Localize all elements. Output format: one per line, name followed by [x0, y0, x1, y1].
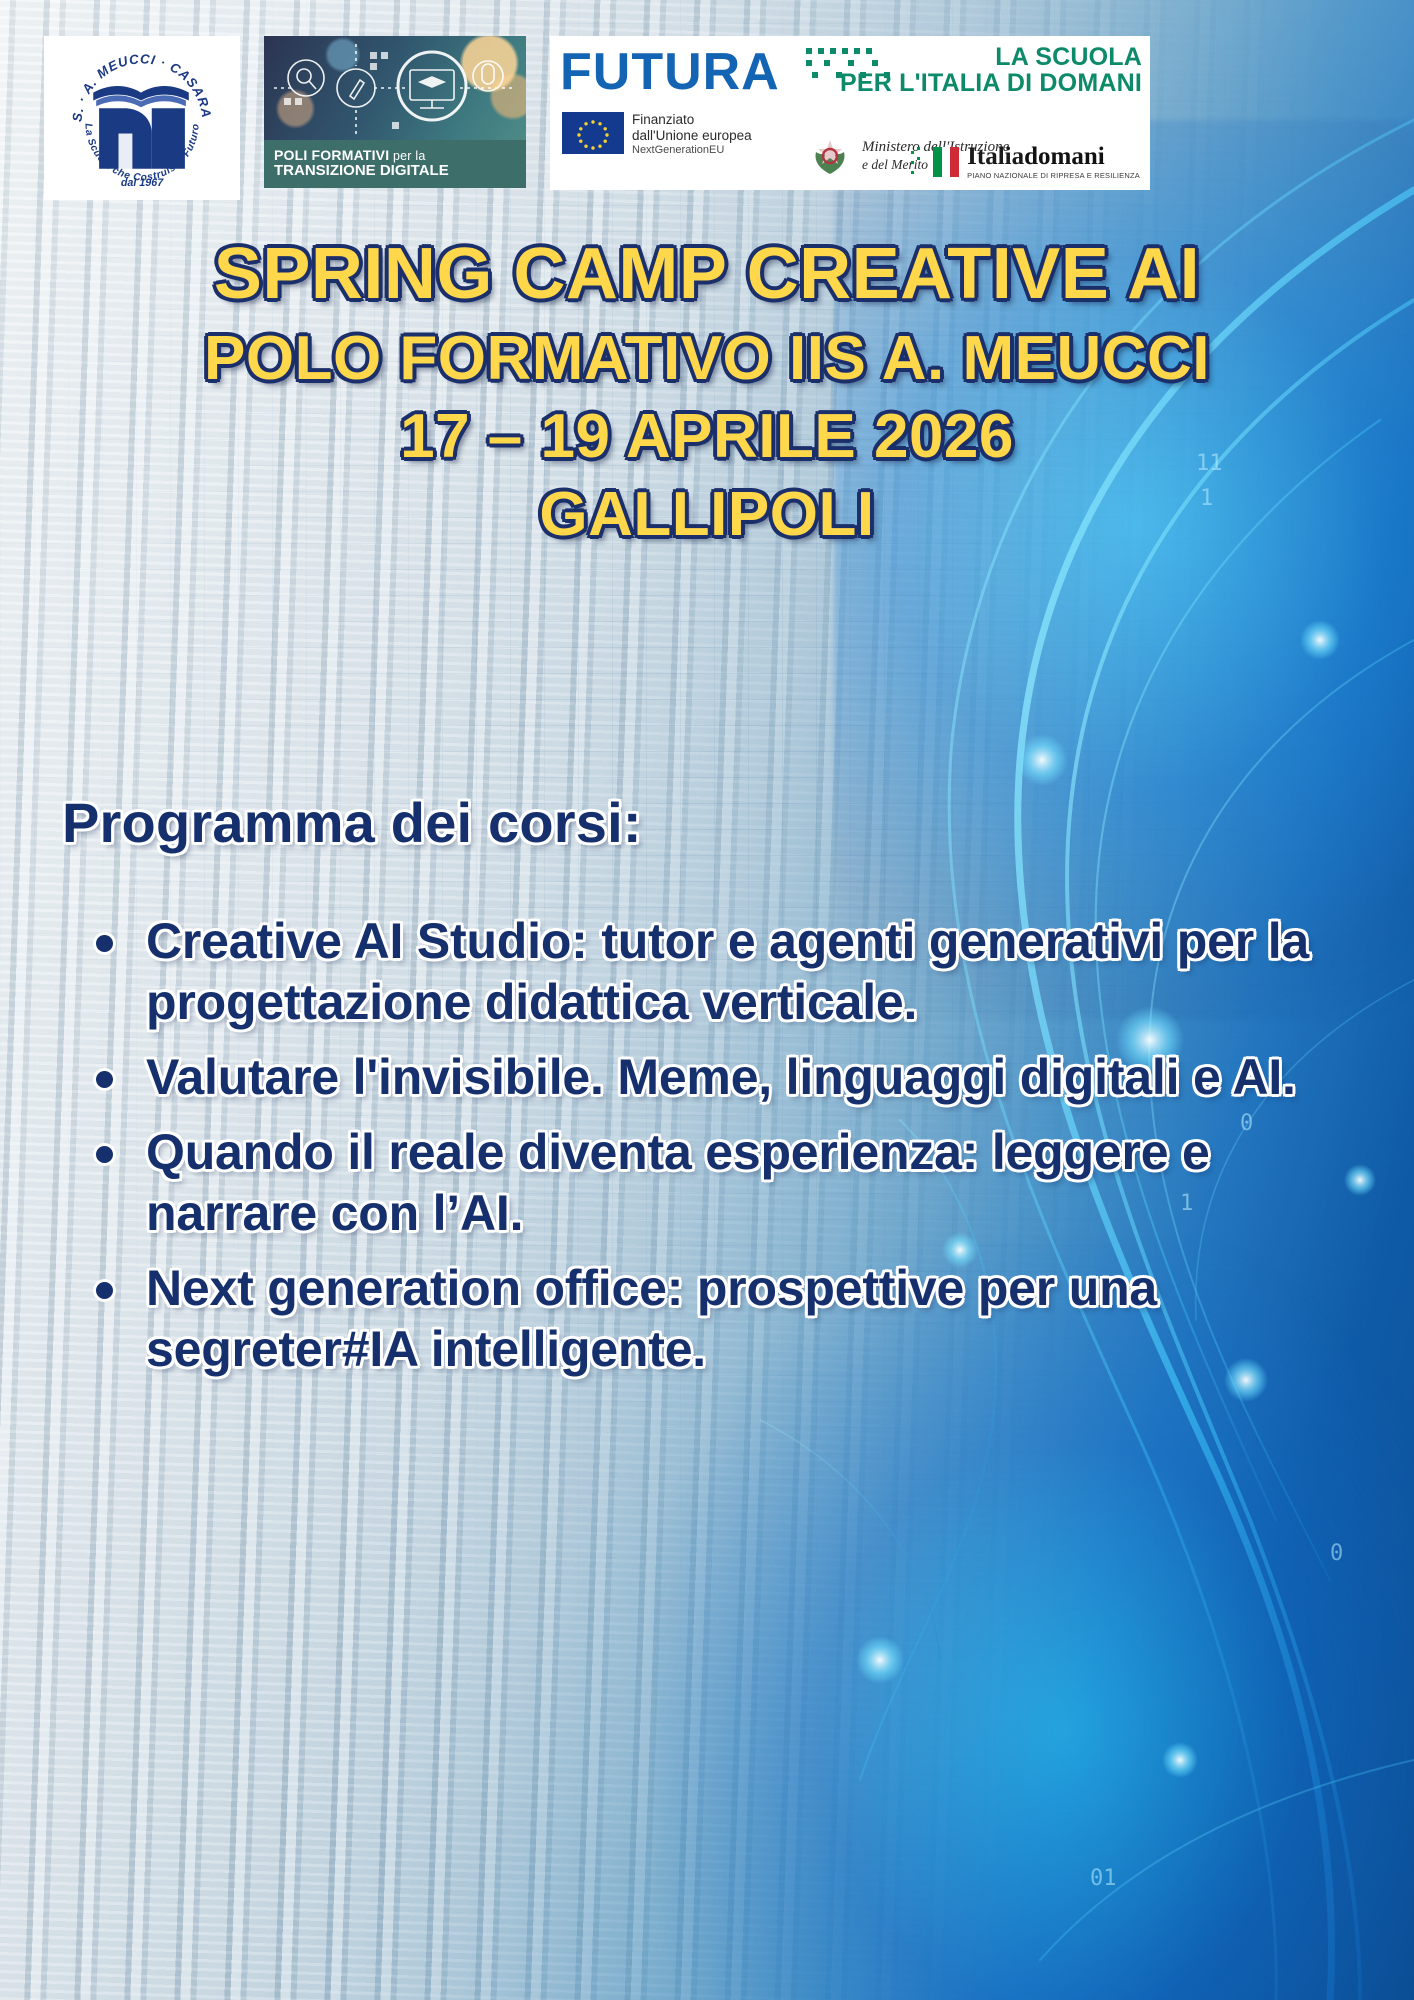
italia-domani-wordmark: Italiadomani PIANO NAZIONALE DI RIPRESA …	[967, 144, 1140, 180]
poli-icons	[264, 36, 526, 140]
course-item-label: Quando il reale diventa esperienza: legg…	[146, 1124, 1210, 1241]
poster-dates: 17 – 19 APRILE 2026	[0, 404, 1414, 470]
eu-funding-text: Finanziato dall'Unione europea NextGener…	[632, 112, 752, 157]
italia-subtitle: PIANO NAZIONALE DI RIPRESA E RESILIENZA	[967, 172, 1140, 180]
svg-text:01: 01	[1090, 1866, 1117, 1891]
course-list: Creative AI Studio: tutor e agenti gener…	[48, 911, 1366, 1380]
bullet-icon	[96, 1146, 113, 1163]
scuola-line1: LA SCUOLA	[840, 44, 1142, 70]
italia-dots-icon	[911, 147, 925, 177]
poli-caption: POLI FORMATIVI per la TRANSIZIONE DIGITA…	[264, 140, 526, 188]
republic-emblem-icon	[808, 134, 852, 178]
eu-funding-block: Finanziato dall'Unione europea NextGener…	[562, 112, 752, 157]
logo-strip: · I.I.S. · A. MEUCCI · CASARANO · La Scu…	[0, 36, 1414, 196]
school-logo: · I.I.S. · A. MEUCCI · CASARANO · La Scu…	[44, 36, 240, 200]
italia-word-2: domani	[1024, 143, 1105, 170]
italia-word-1: Italia	[967, 143, 1024, 170]
meucci-seal-icon: · I.I.S. · A. MEUCCI · CASARANO · La Scu…	[64, 40, 220, 196]
scuola-line2: PER L'ITALIA DI DOMANI	[840, 70, 1142, 96]
poli-photo	[264, 36, 526, 140]
eu-flag-icon	[562, 112, 624, 154]
poster-subtitle-venue: POLO FORMATIVO IIS A. MEUCCI	[0, 326, 1414, 392]
eu-line3: NextGenerationEU	[632, 144, 752, 157]
eu-line1: Finanziato	[632, 112, 752, 128]
poli-formativi-logo: POLI FORMATIVI per la TRANSIZIONE DIGITA…	[264, 36, 526, 188]
course-item-label: Valutare l'invisibile. Meme, linguaggi d…	[146, 1049, 1296, 1105]
course-item: Valutare l'invisibile. Meme, linguaggi d…	[88, 1047, 1366, 1108]
svg-text:0: 0	[1330, 1541, 1343, 1566]
futura-banner: FUTURA	[550, 36, 1150, 190]
title-block: SPRING CAMP CREATIVE AI POLO FORMATIVO I…	[0, 236, 1414, 547]
poli-line1-bold: POLI FORMATIVI	[274, 147, 389, 163]
programme-heading: Programma dei corsi:	[62, 790, 1366, 855]
course-item-label: Next generation office: prospettive per …	[146, 1260, 1157, 1377]
poster-title: SPRING CAMP CREATIVE AI	[0, 236, 1414, 312]
bullet-icon	[96, 935, 113, 952]
eu-line2: dall'Unione europea	[632, 128, 752, 144]
bullet-icon	[96, 1282, 113, 1299]
course-item-label: Creative AI Studio: tutor e agenti gener…	[146, 913, 1309, 1030]
course-item: Creative AI Studio: tutor e agenti gener…	[88, 911, 1366, 1033]
poli-line1-light: per la	[389, 149, 425, 163]
futura-right: LA SCUOLA PER L'ITALIA DI DOMANI Ministe…	[798, 36, 1150, 190]
poli-line2: TRANSIZIONE DIGITALE	[274, 163, 526, 180]
italia-domani-block: Italiadomani PIANO NAZIONALE DI RIPRESA …	[911, 144, 1140, 180]
poster: 111 01 010 · I.I.S. · A. MEUCCI · CASARA…	[0, 0, 1414, 2000]
svg-text:dal 1967: dal 1967	[121, 177, 164, 189]
bullet-icon	[96, 1071, 113, 1088]
futura-left: FUTURA	[550, 36, 798, 190]
course-item: Quando il reale diventa esperienza: legg…	[88, 1122, 1366, 1244]
futura-wordmark: FUTURA	[560, 46, 780, 98]
scuola-lines: LA SCUOLA PER L'ITALIA DI DOMANI	[840, 44, 1142, 97]
poster-city: GALLIPOLI	[0, 482, 1414, 548]
programme-section: Programma dei corsi: Creative AI Studio:…	[48, 790, 1366, 1394]
italian-flag-icon	[933, 147, 959, 177]
course-item: Next generation office: prospettive per …	[88, 1258, 1366, 1380]
